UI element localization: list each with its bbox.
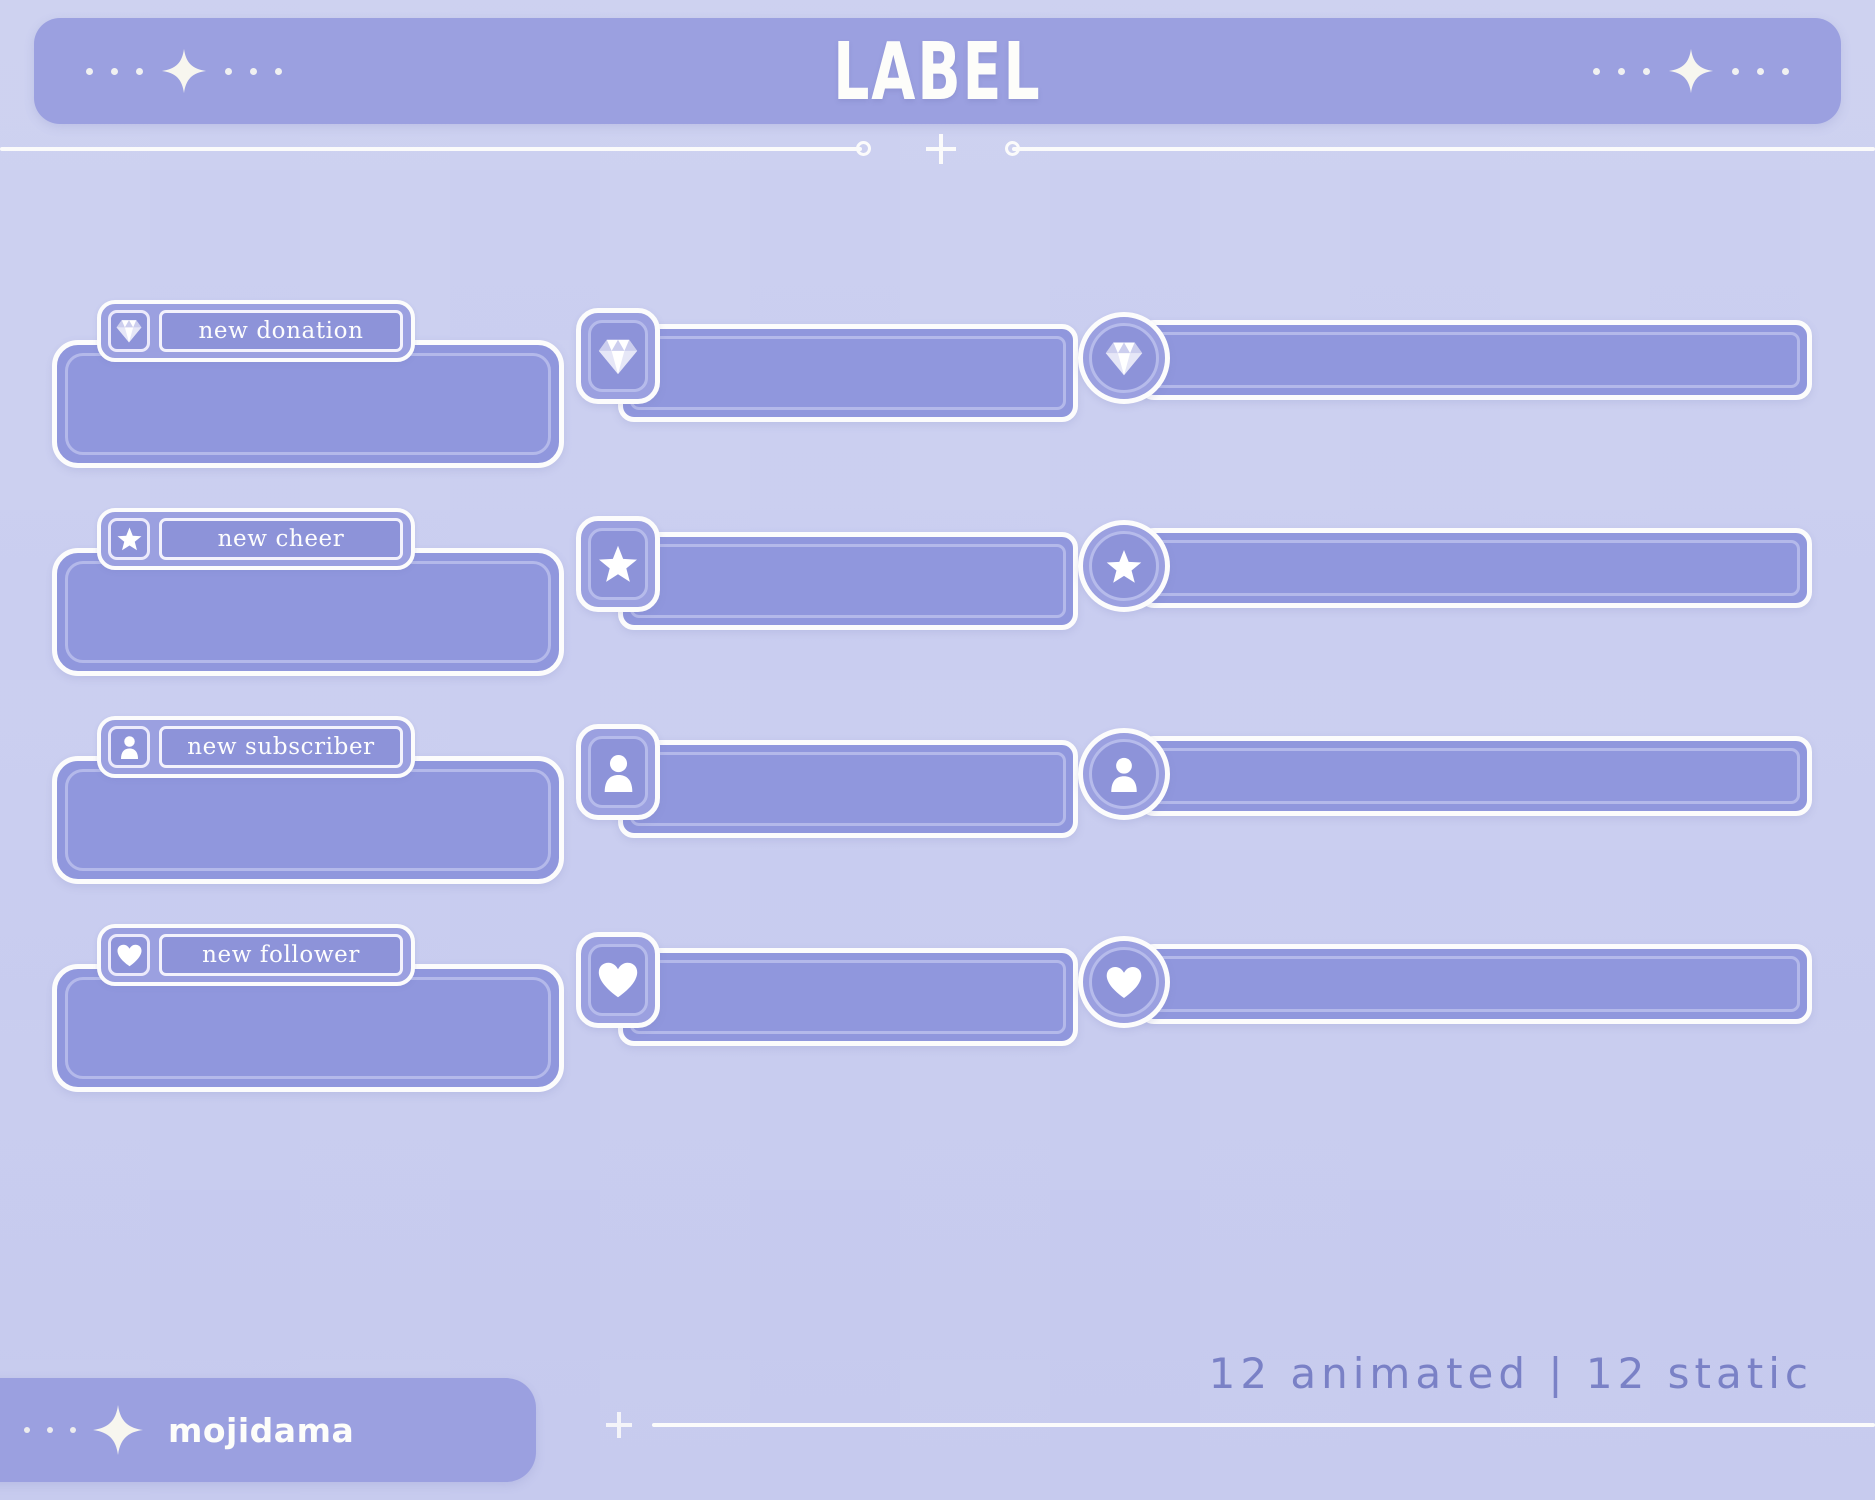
overlay-tab-textbox: new follower [159, 934, 403, 976]
plus-cross-icon [926, 134, 956, 164]
sparkle-icon [1668, 48, 1714, 94]
overlay-tab[interactable]: new cheer [97, 508, 415, 570]
overlay-bar-inner-border [1150, 332, 1800, 388]
circle-bar-overlay-cheer[interactable] [1078, 520, 1818, 650]
decor-dot [225, 68, 232, 75]
decor-dot [250, 68, 257, 75]
overlay-bar-inner-border [1150, 540, 1800, 596]
star-icon [108, 518, 150, 560]
decor-dot [275, 68, 282, 75]
overlay-bar-inner-border [630, 544, 1066, 618]
asset-count-text: 12 animated | 12 static [1209, 1349, 1813, 1398]
diamond-icon [1089, 323, 1159, 393]
overlay-bar-inner-border [1150, 956, 1800, 1012]
brand-badge: mojidama [0, 1378, 536, 1482]
overlay-bar-inner-border [630, 960, 1066, 1034]
header-banner: LABEL [34, 18, 1841, 124]
brand-name: mojidama [168, 1411, 354, 1450]
top-divider [0, 130, 1875, 166]
overlay-bar-inner-border [1150, 748, 1800, 804]
overlay-bar-inner-border [630, 752, 1066, 826]
overlay-bar [618, 532, 1078, 630]
overlay-bar [618, 948, 1078, 1046]
decor-dot [1593, 68, 1600, 75]
heart-icon [588, 944, 648, 1016]
decor-dot [86, 68, 93, 75]
overlay-panel-inner-border [65, 769, 551, 871]
divider-line-right [1012, 147, 1875, 151]
overlay-panel-inner-border [65, 977, 551, 1079]
person-icon [108, 726, 150, 768]
overlay-badge[interactable] [576, 308, 660, 404]
brand-decor-dots [24, 1427, 76, 1433]
overlay-row: new cheer [0, 508, 1875, 716]
overlay-panel-inner-border [65, 353, 551, 455]
overlay-bar [1138, 736, 1812, 816]
decor-dot [1732, 68, 1739, 75]
decor-dot [70, 1427, 76, 1433]
overlay-tab-textbox: new subscriber [159, 726, 403, 768]
header-decor-left [86, 48, 282, 94]
sparkle-icon [92, 1404, 144, 1456]
overlay-bar [1138, 528, 1812, 608]
overlay-row: new subscriber [0, 716, 1875, 924]
heart-icon [108, 934, 150, 976]
diamond-icon [588, 320, 648, 392]
footer-divider-line [652, 1423, 1875, 1427]
badge-bar-overlay-follower[interactable] [566, 932, 1126, 1082]
overlay-badge[interactable] [576, 932, 660, 1028]
overlay-label: new donation [199, 318, 364, 344]
page-title: LABEL [833, 24, 1041, 117]
decor-dot [1618, 68, 1625, 75]
overlay-circle-badge[interactable] [1078, 728, 1170, 820]
overlay-tab-textbox: new cheer [159, 518, 403, 560]
tab-panel-overlay-follower[interactable]: new follower [52, 924, 602, 1104]
star-icon [1089, 531, 1159, 601]
circle-node-icon [856, 141, 871, 156]
circle-bar-overlay-follower[interactable] [1078, 936, 1818, 1066]
tab-panel-overlay-subscriber[interactable]: new subscriber [52, 716, 602, 896]
decor-dot [1643, 68, 1650, 75]
overlay-label: new follower [202, 942, 360, 968]
overlay-row: new follower [0, 924, 1875, 1132]
overlay-row: new donation [0, 300, 1875, 508]
decor-dot [136, 68, 143, 75]
overlay-panel-inner-border [65, 561, 551, 663]
decor-dot [1782, 68, 1789, 75]
overlay-circle-badge[interactable] [1078, 520, 1170, 612]
badge-bar-overlay-donation[interactable] [566, 308, 1126, 458]
overlay-bar-inner-border [630, 336, 1066, 410]
heart-icon [1089, 947, 1159, 1017]
overlay-bar [1138, 320, 1812, 400]
overlay-bar [618, 324, 1078, 422]
overlay-bar [1138, 944, 1812, 1024]
person-icon [1089, 739, 1159, 809]
badge-bar-overlay-cheer[interactable] [566, 516, 1126, 666]
overlay-badge[interactable] [576, 724, 660, 820]
divider-line-left [0, 147, 862, 151]
overlay-grid: new donation [0, 300, 1875, 1132]
overlay-badge[interactable] [576, 516, 660, 612]
header-decor-right [1593, 48, 1789, 94]
overlay-label: new subscriber [187, 734, 375, 760]
diamond-icon [108, 310, 150, 352]
decor-dot [1757, 68, 1764, 75]
overlay-tab[interactable]: new follower [97, 924, 415, 986]
decor-dot [47, 1427, 53, 1433]
circle-bar-overlay-subscriber[interactable] [1078, 728, 1818, 858]
overlay-tab[interactable]: new subscriber [97, 716, 415, 778]
overlay-circle-badge[interactable] [1078, 936, 1170, 1028]
circle-bar-overlay-donation[interactable] [1078, 312, 1818, 442]
tab-panel-overlay-donation[interactable]: new donation [52, 300, 602, 480]
tab-panel-overlay-cheer[interactable]: new cheer [52, 508, 602, 688]
decor-dot [24, 1427, 30, 1433]
overlay-tab-textbox: new donation [159, 310, 403, 352]
person-icon [588, 736, 648, 808]
overlay-bar [618, 740, 1078, 838]
overlay-circle-badge[interactable] [1078, 312, 1170, 404]
star-icon [588, 528, 648, 600]
plus-cross-icon [606, 1412, 632, 1438]
badge-bar-overlay-subscriber[interactable] [566, 724, 1126, 874]
sparkle-icon [161, 48, 207, 94]
overlay-label: new cheer [218, 526, 345, 552]
decor-dot [111, 68, 118, 75]
overlay-tab[interactable]: new donation [97, 300, 415, 362]
